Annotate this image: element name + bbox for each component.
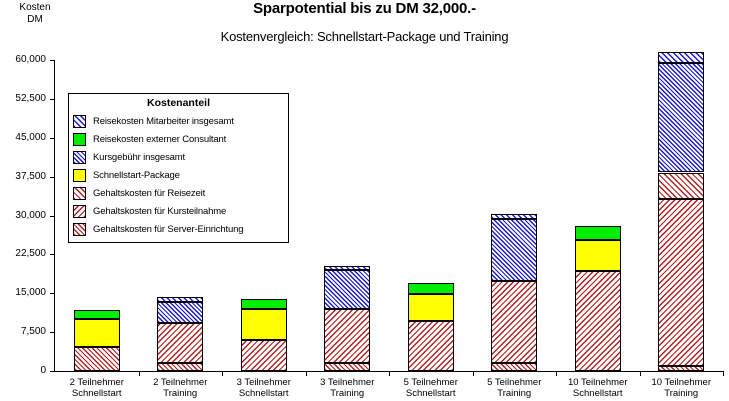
x-tick-label: 2 TeilnehmerSchnellstart [55, 377, 139, 399]
legend-item: Schnellstart-Package [73, 166, 284, 184]
y-tick-label: 7,500 [0, 326, 46, 337]
x-tick-label-line: 2 Teilnehmer [55, 377, 139, 388]
x-tick-label-line: Schnellstart [55, 388, 139, 399]
chart-legend: Kostenanteil Reisekosten Mitarbeiter ins… [68, 93, 289, 243]
bar-stack [241, 299, 287, 371]
y-axis-title-line2: DM [6, 14, 64, 26]
legend-swatch [73, 115, 86, 128]
x-tick-label-line: 10 Teilnehmer [640, 377, 724, 388]
x-tick-mark [139, 371, 140, 376]
x-tick-label: 3 TeilnehmerSchnellstart [222, 377, 306, 399]
legend-items: Reisekosten Mitarbeiter insgesamtReiseko… [73, 112, 284, 238]
legend-label: Gehaltskosten für Reisezeit [93, 188, 205, 199]
bar-segment [157, 363, 203, 371]
bar-stack [575, 226, 621, 371]
legend-item: Reisekosten Mitarbeiter insgesamt [73, 112, 284, 130]
x-tick-label: 5 TeilnehmerTraining [473, 377, 557, 399]
bar-segment [74, 347, 120, 371]
legend-label: Reisekosten externer Consultant [93, 134, 226, 145]
chart-canvas: Sparpotential bis zu DM 32,000.- Kostenv… [0, 0, 729, 401]
bar-stack [74, 310, 120, 371]
bar-segment [324, 266, 370, 270]
legend-swatch [73, 133, 86, 146]
y-tick-label: 45,000 [0, 132, 46, 143]
legend-swatch [73, 223, 86, 236]
bar-stack [658, 52, 704, 371]
x-tick-label: 3 TeilnehmerTraining [306, 377, 390, 399]
legend-item: Gehaltskosten für Server-Einrichtung [73, 220, 284, 238]
legend-title: Kostenanteil [73, 97, 284, 109]
y-tick-label: 15,000 [0, 287, 46, 298]
x-tick-label: 10 TeilnehmerTraining [640, 377, 724, 399]
x-tick-label-line: Training [139, 388, 223, 399]
legend-swatch [73, 169, 86, 182]
bar-segment [324, 270, 370, 309]
x-tick-label-line: 5 Teilnehmer [389, 377, 473, 388]
x-tick-label-line: 5 Teilnehmer [473, 377, 557, 388]
x-tick-mark [473, 371, 474, 376]
bar-segment [491, 281, 537, 363]
legend-label: Schnellstart-Package [93, 170, 180, 181]
bar-segment [324, 363, 370, 371]
bar-stack [324, 266, 370, 371]
bar-segment [241, 340, 287, 371]
x-tick-label-line: 3 Teilnehmer [306, 377, 390, 388]
bar-segment [575, 271, 621, 371]
x-tick-label-line: 10 Teilnehmer [556, 377, 640, 388]
bar-stack [408, 283, 454, 371]
chart-title: Sparpotential bis zu DM 32,000.- [0, 0, 729, 17]
bar-stack [157, 297, 203, 371]
x-tick-label: 10 TeilnehmerSchnellstart [556, 377, 640, 399]
bar-segment [408, 321, 454, 371]
x-tick-mark [723, 371, 724, 376]
x-tick-mark [389, 371, 390, 376]
x-tick-label-line: 3 Teilnehmer [222, 377, 306, 388]
x-tick-label-line: Schnellstart [389, 388, 473, 399]
legend-swatch [73, 187, 86, 200]
x-tick-label-line: Training [640, 388, 724, 399]
bar-segment [658, 366, 704, 371]
y-tick-label: 37,500 [0, 171, 46, 182]
bar-segment [324, 309, 370, 363]
x-tick-mark [640, 371, 641, 376]
legend-label: Reisekosten Mitarbeiter insgesamt [93, 116, 234, 127]
legend-label: Kursgebühr insgesamt [93, 152, 185, 163]
bar-segment [241, 299, 287, 308]
x-tick-mark [306, 371, 307, 376]
bar-segment [74, 319, 120, 346]
chart-subtitle: Kostenvergleich: Schnellstart-Package un… [0, 29, 729, 44]
x-tick-label: 2 TeilnehmerTraining [139, 377, 223, 399]
bar-segment [74, 310, 120, 319]
bar-segment [408, 294, 454, 321]
legend-swatch [73, 151, 86, 164]
y-tick-label: 30,000 [0, 210, 46, 221]
x-tick-label-line: Schnellstart [556, 388, 640, 399]
legend-label: Gehaltskosten für Server-Einrichtung [93, 224, 243, 235]
legend-item: Gehaltskosten für Kursteilnahme [73, 202, 284, 220]
y-axis-title-line1: Kosten [6, 2, 64, 14]
x-tick-label-line: Schnellstart [222, 388, 306, 399]
bar-segment [241, 309, 287, 340]
y-tick-label: 22,500 [0, 248, 46, 259]
x-tick-mark [556, 371, 557, 376]
x-tick-mark [222, 371, 223, 376]
bar-segment [658, 52, 704, 63]
bar-segment [575, 240, 621, 272]
bar-segment [157, 302, 203, 323]
x-tick-label-line: 2 Teilnehmer [139, 377, 223, 388]
legend-item: Kursgebühr insgesamt [73, 148, 284, 166]
x-tick-label-line: Training [473, 388, 557, 399]
legend-item: Gehaltskosten für Reisezeit [73, 184, 284, 202]
y-axis-title: Kosten DM [6, 2, 64, 26]
bar-stack [491, 214, 537, 371]
bar-segment [575, 226, 621, 239]
bar-segment [157, 323, 203, 363]
x-tick-label-line: Training [306, 388, 390, 399]
y-tick-label: 0 [0, 365, 46, 376]
bar-segment [491, 363, 537, 371]
bar-segment [658, 199, 704, 366]
bar-segment [658, 173, 704, 199]
legend-swatch [73, 205, 86, 218]
legend-label: Gehaltskosten für Kursteilnahme [93, 206, 226, 217]
y-tick-label: 60,000 [0, 54, 46, 65]
y-tick-label: 52,500 [0, 93, 46, 104]
x-tick-label: 5 TeilnehmerSchnellstart [389, 377, 473, 399]
legend-item: Reisekosten externer Consultant [73, 130, 284, 148]
bar-segment [408, 283, 454, 293]
bar-segment [491, 219, 537, 281]
bar-segment [658, 63, 704, 172]
y-tick-mark [50, 371, 55, 372]
bar-segment [491, 214, 537, 218]
bar-segment [157, 297, 203, 301]
